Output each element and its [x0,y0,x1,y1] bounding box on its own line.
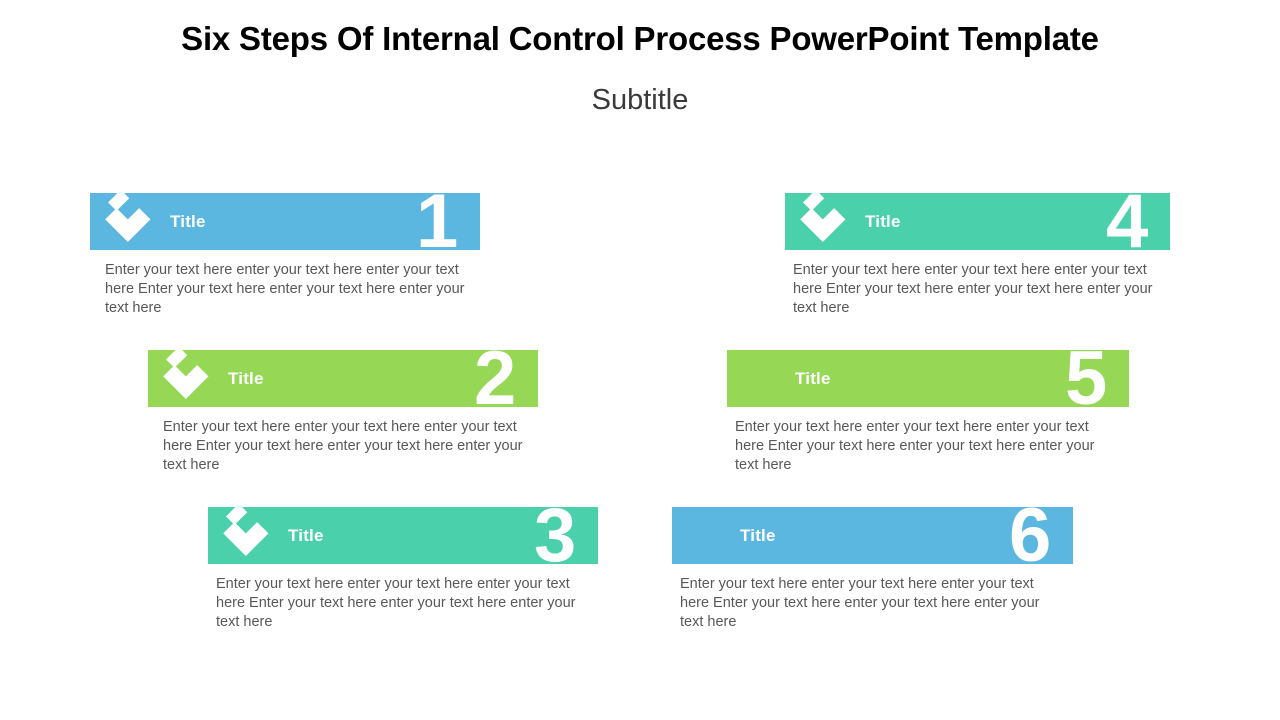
step-item-4[interactable]: Title 4 4 Enter your text here enter you… [785,193,1170,250]
step-body-2: Enter your text here enter your text her… [163,418,533,475]
step-bar-3[interactable]: Title 3 3 [208,507,598,564]
step-title-2: Title [228,369,264,389]
step-number-4: 4 4 [1100,193,1232,250]
step-number-label-6: 6 [1003,507,1065,564]
step-item-3[interactable]: Title 3 3 Enter your text here enter you… [208,507,598,564]
step-item-1[interactable]: Title 1 1 Enter your text here enter you… [90,193,480,250]
slide-canvas: Six Steps Of Internal Control Process Po… [0,0,1280,720]
step-number-label-5: 5 [1059,350,1121,407]
step-body-6: Enter your text here enter your text her… [680,575,1048,632]
arrow-down-right-icon [212,501,274,563]
step-bar-4[interactable]: Title 4 4 [785,193,1170,250]
step-number-label-3: 3 [528,507,590,564]
step-number-1: 1 1 [410,193,542,250]
step-number-label-4: 4 [1100,193,1162,250]
step-body-4: Enter your text here enter your text her… [793,261,1168,318]
step-item-5[interactable]: Title 5 5 Enter your text here enter you… [727,350,1129,407]
step-title-5: Title [795,369,831,389]
step-body-3: Enter your text here enter your text her… [216,575,591,632]
step-body-5: Enter your text here enter your text her… [735,418,1110,475]
step-item-6[interactable]: Title 6 6 Enter your text here enter you… [672,507,1073,564]
step-bar-1[interactable]: Title 1 1 [90,193,480,250]
step-body-1: Enter your text here enter your text her… [105,261,475,318]
step-title-3: Title [288,526,324,546]
step-title-6: Title [740,526,776,546]
step-number-2: 2 2 [468,350,600,407]
page-title: Six Steps Of Internal Control Process Po… [0,20,1280,58]
arrow-down-right-icon [152,344,214,406]
step-bar-6[interactable]: Title 6 6 [672,507,1073,564]
step-item-2[interactable]: Title 2 2 Enter your text here enter you… [148,350,538,407]
step-title-4: Title [865,212,901,232]
arrow-down-right-icon [789,187,851,249]
step-title-1: Title [170,212,206,232]
arrow-down-right-icon [94,187,156,249]
step-number-label-2: 2 [468,350,530,407]
step-bar-5[interactable]: Title 5 5 [727,350,1129,407]
step-number-label-1: 1 [410,193,472,250]
page-subtitle: Subtitle [0,84,1280,117]
step-number-5: 5 5 [1059,350,1191,407]
step-number-3: 3 3 [528,507,660,564]
step-number-6: 6 6 [1003,507,1135,564]
step-bar-2[interactable]: Title 2 2 [148,350,538,407]
